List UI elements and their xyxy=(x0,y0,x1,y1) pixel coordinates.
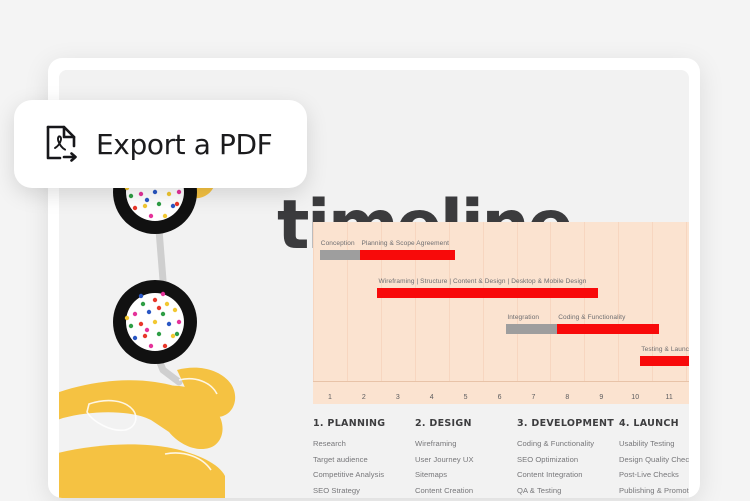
phase-item: SEO Optimization xyxy=(517,455,619,464)
x-tick-label: 1 xyxy=(328,394,332,401)
gantt-task-bars xyxy=(506,324,659,334)
x-tick-label: 10 xyxy=(631,394,639,401)
x-tick-label: 8 xyxy=(565,394,569,401)
export-pdf-button[interactable]: Export a PDF xyxy=(14,100,307,188)
x-tick-label: 3 xyxy=(396,394,400,401)
phase-item: Publishing & Promoting xyxy=(619,486,689,495)
gantt-bar[interactable] xyxy=(360,250,455,260)
x-tick-label: 11 xyxy=(665,394,672,401)
phase-title: 3. DEVELOPMENT xyxy=(517,418,619,429)
x-tick-label: 7 xyxy=(532,394,536,401)
gantt-task-bars xyxy=(377,288,597,298)
phase-column-3: 3. DEVELOPMENTCoding & FunctionalitySEO … xyxy=(517,418,619,498)
gantt-bar[interactable] xyxy=(377,288,597,298)
phase-title: 2. DESIGN xyxy=(415,418,517,429)
gantt-task-label: Conception xyxy=(321,240,355,247)
phase-item: QA & Testing xyxy=(517,486,619,495)
gantt-task-row: ConceptionPlanning & Scope Agreement xyxy=(313,240,689,264)
x-tick-label: 5 xyxy=(464,394,468,401)
phase-item: Content Integration xyxy=(517,470,619,479)
phase-title: 4. LAUNCH xyxy=(619,418,689,429)
gantt-task-bars xyxy=(320,250,456,260)
gantt-task-bars xyxy=(640,356,689,366)
x-tick-label: 4 xyxy=(430,394,434,401)
phase-column-4: 4. LAUNCHUsability TestingDesign Quality… xyxy=(619,418,689,498)
gantt-chart: ConceptionPlanning & Scope AgreementWire… xyxy=(313,222,689,404)
phase-item: Sitemaps xyxy=(415,470,517,479)
phase-item: Design Quality Check xyxy=(619,455,689,464)
phase-item: User Journey UX xyxy=(415,455,517,464)
gantt-task-row: IntegrationCoding & Functionality xyxy=(313,314,689,338)
gantt-bar[interactable] xyxy=(320,250,361,260)
phase-item: Post-Live Checks xyxy=(619,470,689,479)
phase-item: Usability Testing xyxy=(619,439,689,448)
phase-item: Wireframing xyxy=(415,439,517,448)
gantt-task-row: Testing & Launch xyxy=(313,346,689,370)
gantt-task-row: Wireframing | Structure | Content & Desi… xyxy=(313,278,689,302)
gantt-bar[interactable] xyxy=(557,324,659,334)
export-pdf-label: Export a PDF xyxy=(96,128,272,161)
gantt-task-label: Integration xyxy=(507,314,539,321)
phase-item: SEO Strategy xyxy=(313,486,415,495)
phase-column-2: 2. DESIGNWireframingUser Journey UXSitem… xyxy=(415,418,517,498)
gantt-task-label: Coding & Functionality xyxy=(558,314,625,321)
phase-item: Coding & Functionality xyxy=(517,439,619,448)
x-tick-label: 9 xyxy=(599,394,603,401)
phase-title: 1. PLANNING xyxy=(313,418,415,429)
x-tick-label: 6 xyxy=(498,394,502,401)
x-tick-label: 2 xyxy=(362,394,366,401)
gantt-task-label: Wireframing | Structure | Content & Desi… xyxy=(378,278,586,285)
gantt-bar[interactable] xyxy=(506,324,557,334)
phase-columns: 1. PLANNINGResearchTarget audienceCompet… xyxy=(313,418,689,498)
gantt-task-label: Testing & Launch xyxy=(641,346,689,353)
gantt-task-label: Planning & Scope Agreement xyxy=(361,240,449,247)
gantt-bar[interactable] xyxy=(640,356,689,366)
phase-column-1: 1. PLANNINGResearchTarget audienceCompet… xyxy=(313,418,415,498)
phase-item: Target audience xyxy=(313,455,415,464)
phase-item: Research xyxy=(313,439,415,448)
phase-item: Content Creation xyxy=(415,486,517,495)
phase-item: Competitive Analysis xyxy=(313,470,415,479)
pdf-export-icon xyxy=(44,124,80,164)
glasses-lens-lower xyxy=(113,280,197,364)
gantt-x-axis: 123456789101112 xyxy=(313,381,689,404)
